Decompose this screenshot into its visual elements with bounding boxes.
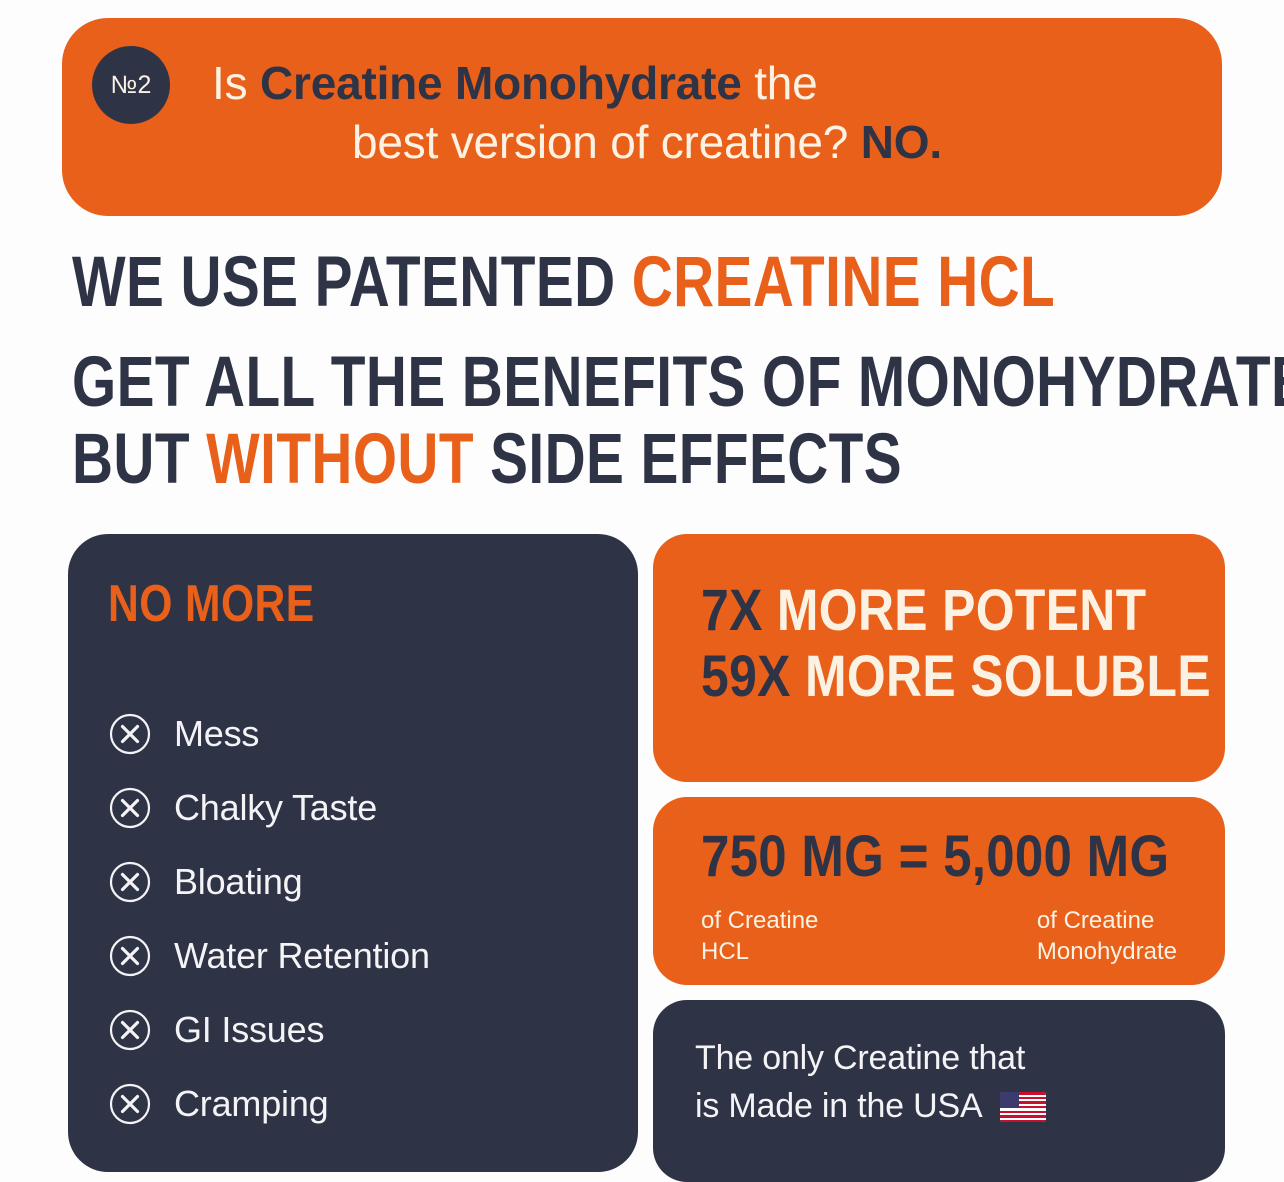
dose-sublabel-left: of Creatine HCL [701,906,818,967]
header-line2-prefix: best version of creatine? [352,116,861,168]
usa-flag-icon [1000,1092,1046,1122]
dose-equation: 750 MG = 5,000 MG [701,823,1127,890]
list-item-label: Chalky Taste [174,787,377,829]
list-item-label: Water Retention [174,935,430,977]
no-more-title: NO MORE [108,574,315,634]
list-item: Bloating [108,845,608,919]
number-badge-label: №2 [110,71,151,100]
circle-x-icon [108,860,152,904]
headline-line-1: WE USE PATENTED CREATINE HCL [72,246,1016,319]
potency-text-2: MORE SOLUBLE [791,644,1211,709]
dose-sublabels: of Creatine HCL of Creatine Monohydrate [701,906,1185,967]
infographic-page: №2 Is Creatine Monohydrate the best vers… [0,0,1284,1177]
headline-3-accent: WITHOUT [206,420,474,499]
headline-3-suffix: SIDE EFFECTS [474,420,902,499]
header-question: Is Creatine Monohydrate the best version… [212,54,1142,172]
dose-sublabel-right-line1: of Creatine [1037,906,1177,937]
dose-sublabel-right-line2: Monohydrate [1037,937,1177,968]
dose-sublabel-right: of Creatine Monohydrate [1037,906,1177,967]
potency-text-1: MORE POTENT [763,578,1147,643]
list-item: Mess [108,697,608,771]
circle-x-icon [108,934,152,978]
potency-multiplier-2: 59X [701,644,791,709]
circle-x-icon [108,786,152,830]
list-item-label: Bloating [174,861,303,903]
usa-line-1: The only Creatine that [695,1034,1225,1082]
list-item: Cramping [108,1067,608,1141]
no-more-panel: NO MORE Mess Chalky Taste Bloating [68,534,638,1172]
list-item: GI Issues [108,993,608,1067]
headline-line-3: BUT WITHOUT SIDE EFFECTS [72,422,1016,499]
header-line2-emphasis: NO. [861,116,942,168]
circle-x-icon [108,1082,152,1126]
header-line1: Is Creatine Monohydrate the [212,57,818,109]
dose-sublabel-left-line1: of Creatine [701,906,818,937]
dose-equivalence-card: 750 MG = 5,000 MG of Creatine HCL of Cre… [653,797,1225,985]
circle-x-icon [108,712,152,756]
header-banner: №2 Is Creatine Monohydrate the best vers… [62,18,1222,216]
list-item-label: GI Issues [174,1009,324,1051]
potency-line-1: 7X MORE POTENT [701,578,1152,644]
usa-line-2: is Made in the USA [695,1087,981,1125]
potency-card: 7X MORE POTENT 59X MORE SOLUBLE [653,534,1225,782]
headline-line-2: GET ALL THE BENEFITS OF MONOHYDRATE, [72,345,1016,422]
dose-sublabel-left-line2: HCL [701,937,818,968]
made-in-usa-card: The only Creatine that is Made in the US… [653,1000,1225,1182]
potency-multiplier-1: 7X [701,578,763,643]
no-more-list: Mess Chalky Taste Bloating Water Retenti… [108,697,608,1141]
headline-3-prefix: BUT [72,420,206,499]
right-column: 7X MORE POTENT 59X MORE SOLUBLE 750 MG =… [653,534,1225,1182]
header-line1-suffix: the [742,57,818,109]
headline-1-plain: WE USE PATENTED [72,243,632,322]
header-line1-emphasis: Creatine Monohydrate [260,57,742,109]
headline-block: WE USE PATENTED CREATINE HCL GET ALL THE… [72,246,1252,498]
list-item-label: Mess [174,713,259,755]
list-item: Chalky Taste [108,771,608,845]
potency-line-2: 59X MORE SOLUBLE [701,644,1152,710]
list-item: Water Retention [108,919,608,993]
list-item-label: Cramping [174,1083,328,1125]
usa-line-2-wrap: is Made in the USA [695,1082,1225,1130]
circle-x-icon [108,1008,152,1052]
headline-1-accent: CREATINE HCL [632,243,1055,322]
header-line1-prefix: Is [212,57,260,109]
header-line2: best version of creatine? NO. [152,113,1142,172]
flag-canton [1000,1092,1019,1108]
